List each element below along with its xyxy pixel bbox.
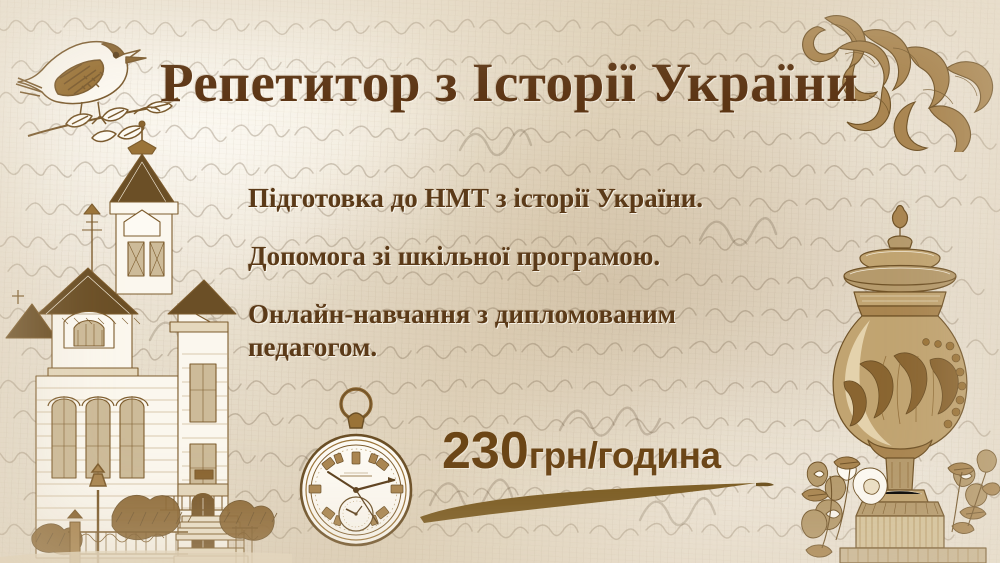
vintage-tutor-poster: Репетитор з Історії України Підготовка д… <box>0 0 1000 563</box>
benefit-line-1: Підготовка до НМТ з історії України. <box>248 182 848 215</box>
benefit-line-3: Онлайн-навчання з дипломованим педагогом… <box>248 298 793 364</box>
price-unit: грн/година <box>529 435 721 476</box>
pocket-watch-icon <box>292 382 420 563</box>
swash-underline-icon <box>416 481 776 529</box>
price-text: 230грн/година <box>430 425 770 482</box>
page-title: Репетитор з Історії України <box>160 52 860 114</box>
benefits-list: Підготовка до НМТ з історії України. Доп… <box>248 182 848 389</box>
price-block: 230грн/година <box>430 425 770 535</box>
price-amount: 230 <box>442 422 529 480</box>
benefit-line-2: Допомога зі шкільної програмою. <box>248 240 848 273</box>
